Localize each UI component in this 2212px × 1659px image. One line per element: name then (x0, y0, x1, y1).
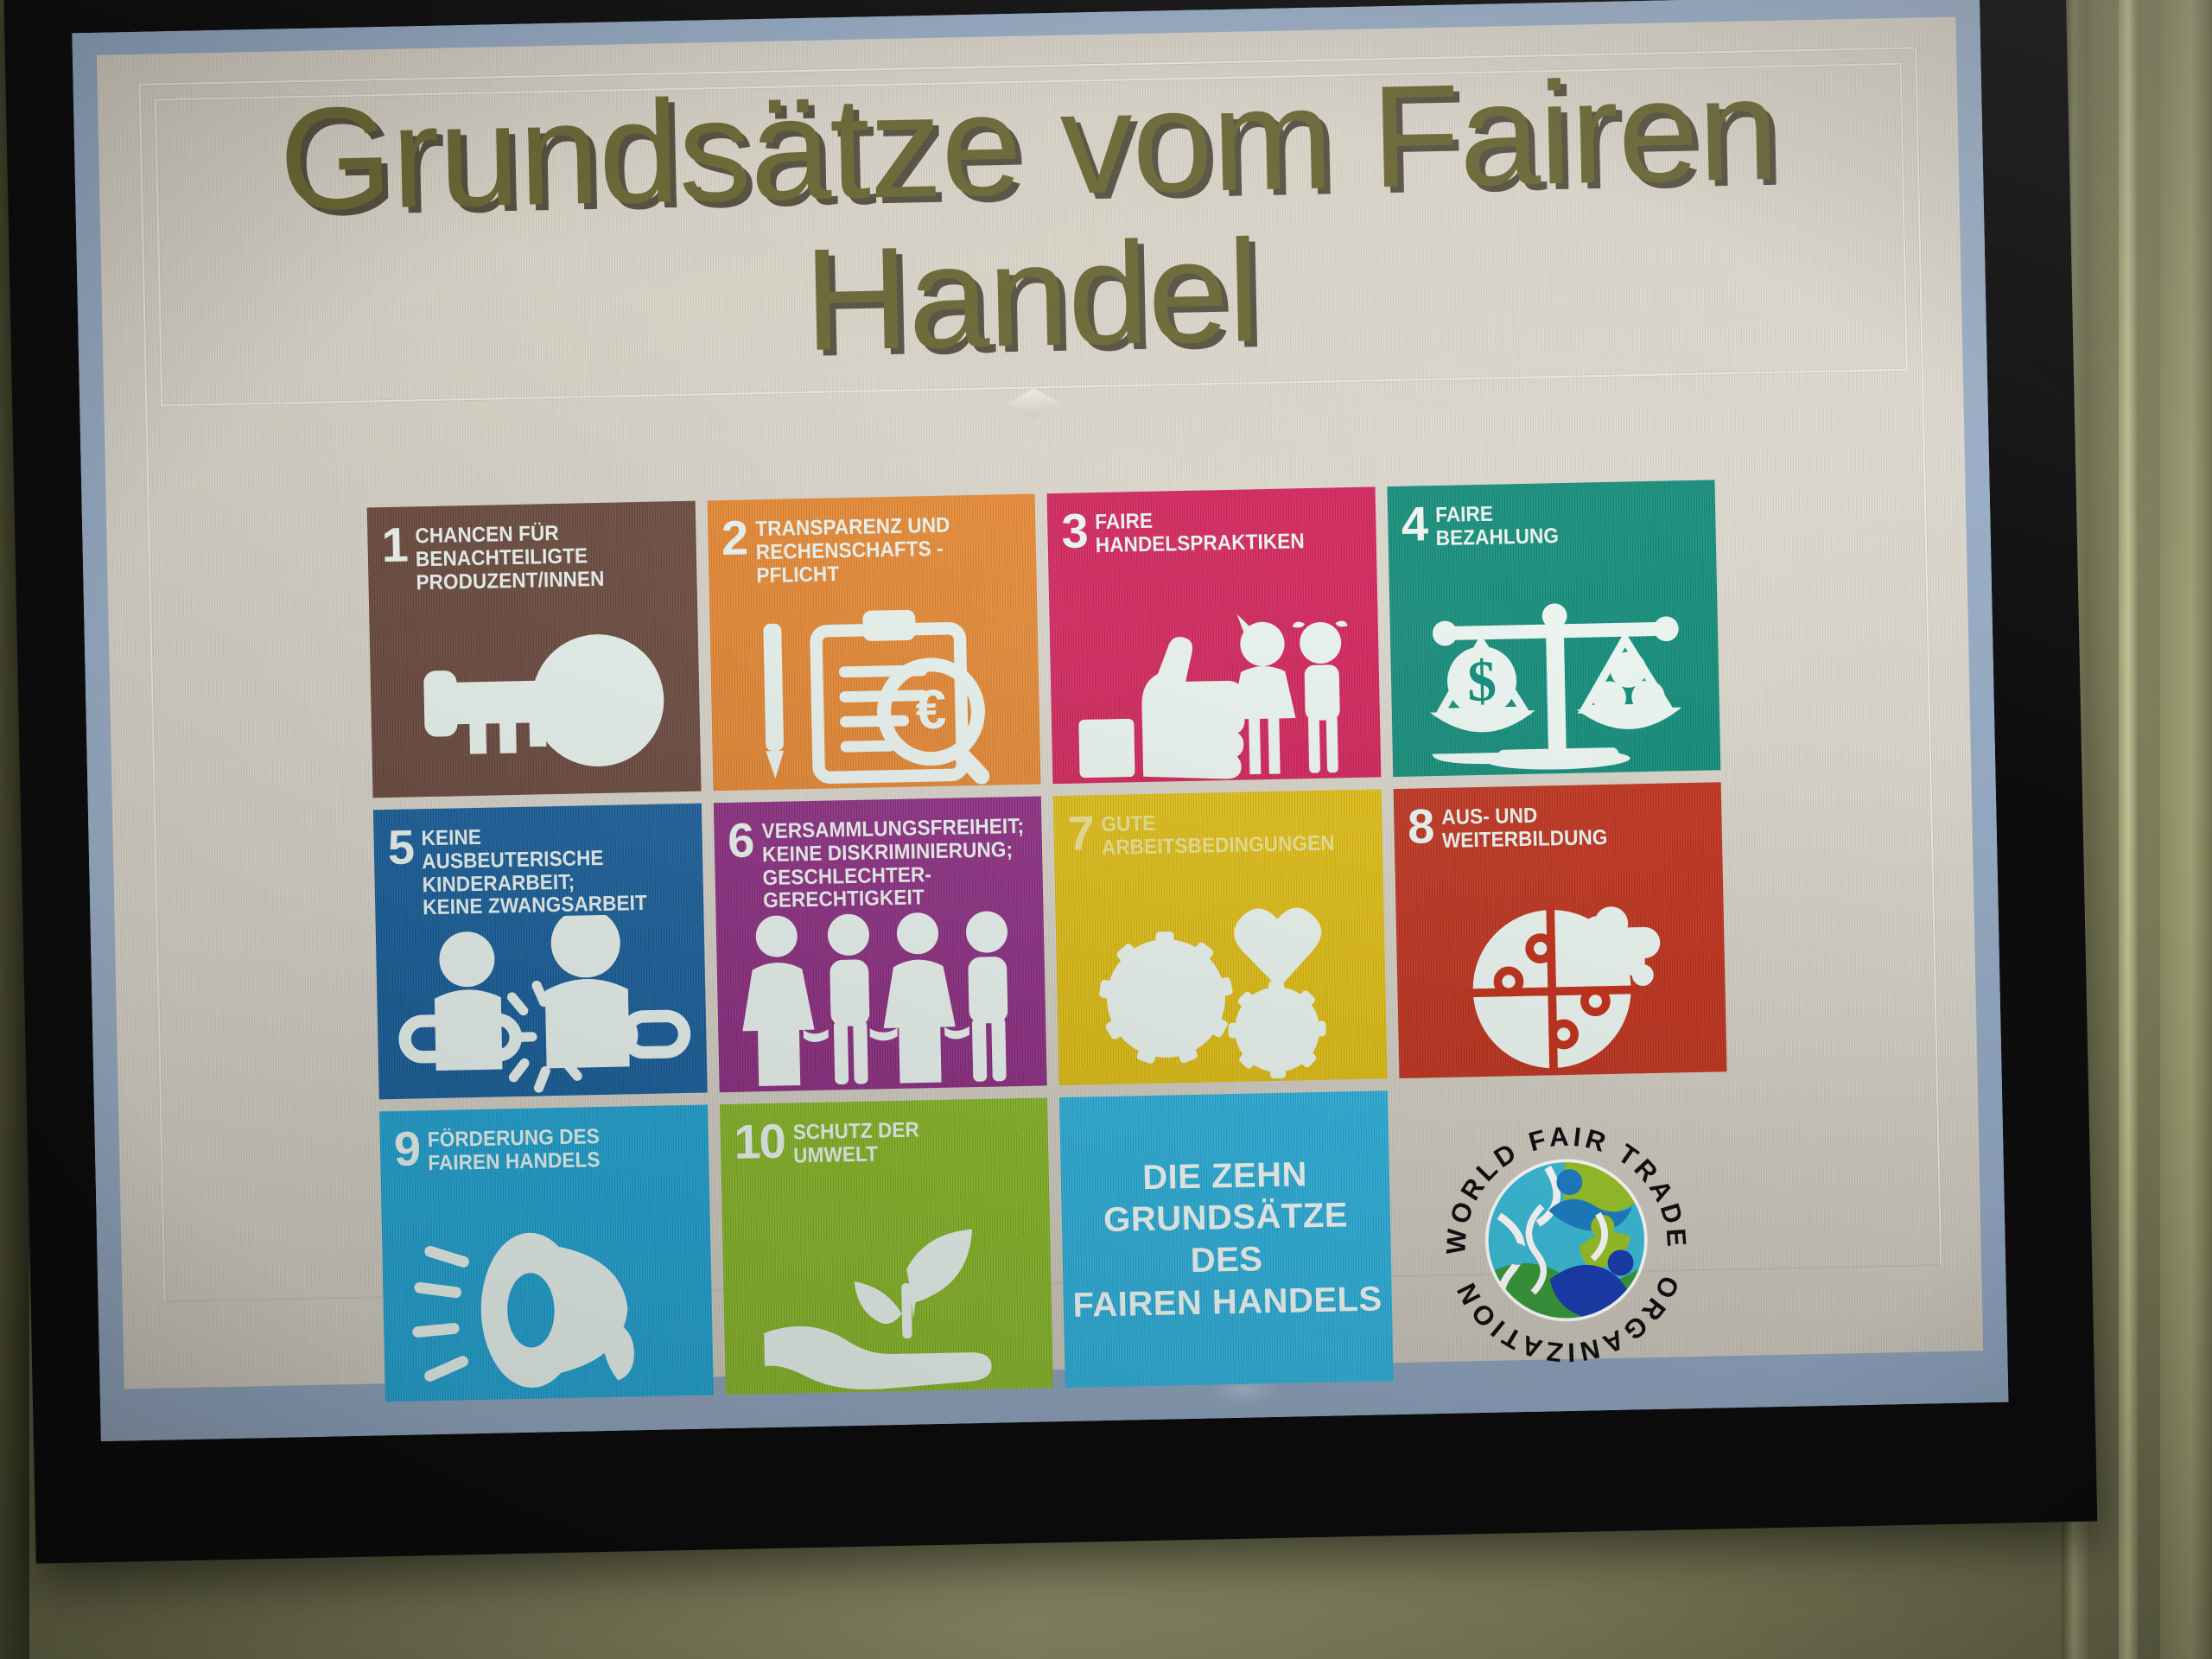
slide-title: Grundsätze vom Fairen Handel (193, 52, 1868, 388)
principle-number: 2 (721, 515, 747, 560)
principle-label: Schutz der Umwelt (792, 1116, 919, 1169)
principle-number: 6 (728, 817, 753, 862)
principle-number: 5 (387, 824, 413, 869)
presentation-slide: Grundsätze vom Fairen Handel 1Chancen fü… (72, 0, 2008, 1441)
principle-number: 1 (381, 523, 407, 568)
principle-tile-7[interactable]: 7Gute Arbeitsbedingungen (1053, 789, 1387, 1085)
principle-tile-5[interactable]: 5Keine ausbeuterische Kinderarbeit; kein… (373, 803, 707, 1099)
principle-header: 6Versammlungsfreiheit; keine Diskriminie… (728, 811, 1030, 914)
principle-tile-1[interactable]: 1Chancen für benachteiligte Produzent/in… (367, 501, 701, 798)
principle-tile-8[interactable]: 8Aus- und Weiterbildung (1393, 782, 1726, 1078)
principle-label: Faire Bezahlung (1434, 499, 1558, 551)
principle-label: Aus- und Weiterbildung (1441, 800, 1608, 854)
puzzle-circle-icon (1395, 892, 1727, 1078)
principle-header: 9Förderung des Fairen Handels (393, 1121, 695, 1177)
principle-number: 4 (1401, 501, 1427, 546)
principle-header: 4Faire Bezahlung (1401, 496, 1702, 552)
wall-moulding-c (2160, 0, 2212, 1659)
principle-header: 2Transparenz und Rechenschafts - pflicht (721, 510, 1023, 589)
slide-content-area: Grundsätze vom Fairen Handel 1Chancen fü… (97, 16, 1983, 1389)
balance-scale-icon: $ (1389, 590, 1721, 777)
megaphone-icon (382, 1215, 714, 1402)
principle-label: Versammlungsfreiheit; keine Diskriminier… (761, 812, 1026, 914)
room-background: Grundsätze vom Fairen Handel 1Chancen fü… (0, 0, 2212, 1659)
principle-tile-10[interactable]: 10Schutz der Umwelt (720, 1098, 1053, 1395)
principle-label: Gute Arbeitsbedingungen (1101, 805, 1335, 860)
hand-sprout-icon (721, 1208, 1053, 1395)
wfto-logo-tile: WORLD FAIR TRADE ORGANIZATION (1399, 1084, 1732, 1381)
principle-header: 1Chancen für benachteiligte Produzent/in… (381, 517, 683, 596)
principle-header: 10Schutz der Umwelt (734, 1114, 1035, 1170)
wall-moulding-b (2119, 0, 2138, 1659)
principle-number: 8 (1408, 804, 1433, 849)
principle-tile-9[interactable]: 9Förderung des Fairen Handels (379, 1105, 713, 1402)
principles-grid: 1Chancen für benachteiligte Produzent/in… (367, 480, 1733, 1402)
principle-number: 7 (1067, 810, 1093, 855)
caption-tile: Die zehn Grundsätze des Fairen Handels (1059, 1091, 1393, 1388)
svg-text:$: $ (1466, 648, 1497, 714)
principle-tile-2[interactable]: 2Transparenz und Rechenschafts - pflicht… (707, 494, 1040, 791)
principle-label: Chancen für benachteiligte Produzent/inn… (415, 518, 605, 595)
thumbs-up-people-icon (1049, 597, 1381, 784)
gears-heart-icon (1055, 899, 1387, 1086)
principle-header: 3Faire Handelspraktiken (1061, 503, 1363, 559)
key-icon (369, 611, 701, 798)
principle-label: Transparenz und Rechenschafts - pflicht (755, 512, 951, 588)
broken-chain-icon (376, 913, 708, 1100)
principle-header: 8Aus- und Weiterbildung (1408, 798, 1709, 854)
principle-number: 3 (1061, 508, 1087, 553)
principle-label: Förderung des Fairen Handels (428, 1122, 601, 1176)
wfto-logo: WORLD FAIR TRADE ORGANIZATION (1414, 1100, 1719, 1381)
principle-tile-6[interactable]: 6Versammlungsfreiheit; keine Diskriminie… (713, 796, 1046, 1092)
principle-label: Keine ausbeuterische Kinderarbeit; keine… (421, 819, 668, 921)
principle-header: 5Keine ausbeuterische Kinderarbeit; kein… (387, 819, 690, 922)
principle-header: 7Gute Arbeitsbedingungen (1067, 804, 1369, 861)
principle-label: Faire Handelspraktiken (1095, 504, 1305, 558)
principle-tile-4[interactable]: 4Faire Bezahlung $ (1387, 480, 1720, 776)
principle-number: 9 (393, 1127, 419, 1172)
svg-text:€: € (914, 677, 946, 741)
clipboard-magnifier-icon: € (709, 604, 1041, 791)
caption-text: Die zehn Grundsätze des Fairen Handels (1070, 1152, 1382, 1327)
principle-tile-3[interactable]: 3Faire Handelspraktiken (1047, 486, 1381, 783)
projection-screen-frame: Grundsätze vom Fairen Handel 1Chancen fü… (3, 0, 2097, 1564)
four-people-icon (715, 906, 1047, 1093)
principle-number: 10 (734, 1119, 785, 1165)
